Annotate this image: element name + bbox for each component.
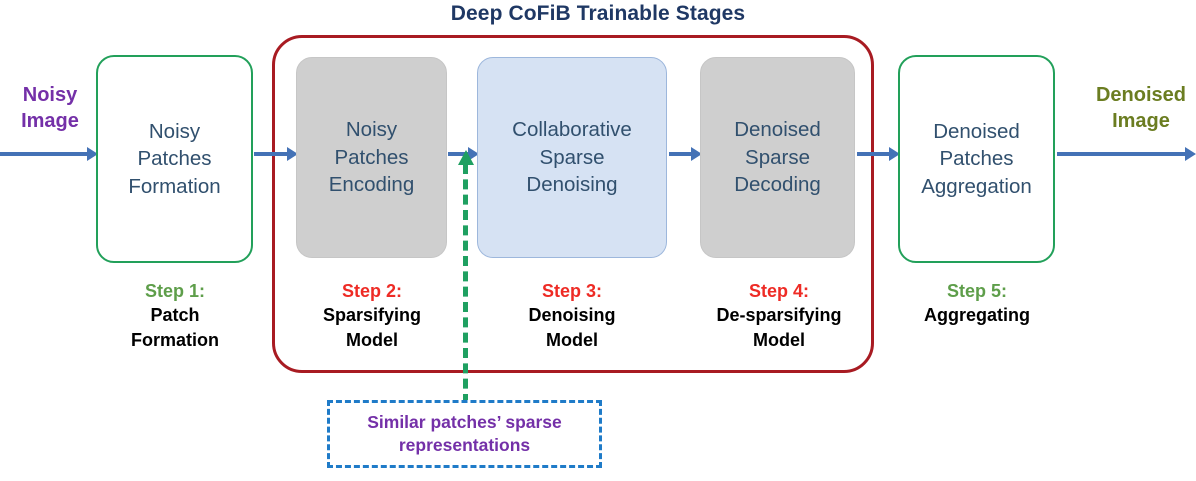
note-line-2: representations	[399, 434, 530, 457]
process-box-noisy-patches-encoding[interactable]: Noisy Patches Encoding	[296, 57, 447, 258]
step-1-line1: Patch	[96, 303, 254, 327]
input-label-line1: Noisy	[23, 84, 77, 106]
arrow-shaft	[1057, 152, 1185, 156]
note-similar-patches-sparse-representations: Similar patches’ sparse representations	[327, 400, 602, 468]
diagram-canvas: Deep CoFiB Trainable Stages Noisy Image …	[0, 0, 1196, 481]
step-3-head: Step 3:	[484, 279, 660, 303]
step-1-head: Step 1:	[96, 279, 254, 303]
step-1-line2: Formation	[96, 328, 254, 352]
box-line-2: Patches	[939, 145, 1013, 172]
arrow-input-to-formation	[0, 147, 98, 161]
feedback-arrow-head-icon	[458, 150, 474, 165]
box-line-1: Noisy	[149, 118, 200, 145]
step-5-head: Step 5:	[893, 279, 1061, 303]
step-4-line1: De-sparsifying	[690, 303, 868, 327]
arrow-denoising-to-decoding	[669, 147, 702, 161]
step-3-line1: Denoising	[484, 303, 660, 327]
step-3-line2: Model	[484, 328, 660, 352]
step-caption-2: Step 2: Sparsifying Model	[293, 279, 451, 352]
output-label: Denoised Image	[1086, 83, 1196, 134]
feedback-arrow-shaft	[463, 164, 468, 404]
arrow-aggregation-to-output	[1057, 147, 1196, 161]
box-line-2: Sparse	[540, 144, 605, 171]
step-5-line1: Aggregating	[893, 303, 1061, 327]
arrow-head-icon	[1185, 147, 1196, 161]
box-line-1: Noisy	[346, 116, 397, 143]
step-2-line2: Model	[293, 328, 451, 352]
process-box-noisy-patches-formation[interactable]: Noisy Patches Formation	[96, 55, 253, 263]
step-4-line2: Model	[690, 328, 868, 352]
step-caption-4: Step 4: De-sparsifying Model	[690, 279, 868, 352]
box-line-2: Patches	[137, 145, 211, 172]
arrow-shaft	[857, 152, 889, 156]
output-label-line1: Denoised	[1096, 84, 1186, 106]
page-title: Deep CoFiB Trainable Stages	[0, 2, 1196, 26]
step-caption-5: Step 5: Aggregating	[893, 279, 1061, 328]
step-caption-3: Step 3: Denoising Model	[484, 279, 660, 352]
output-label-line2: Image	[1112, 110, 1170, 132]
process-box-denoised-sparse-decoding[interactable]: Denoised Sparse Decoding	[700, 57, 855, 258]
note-line-1: Similar patches’ sparse	[367, 411, 562, 434]
arrow-shaft	[254, 152, 287, 156]
box-line-1: Denoised	[734, 116, 821, 143]
box-line-3: Aggregation	[921, 173, 1032, 200]
process-box-denoised-patches-aggregation[interactable]: Denoised Patches Aggregation	[898, 55, 1055, 263]
input-label: Noisy Image	[0, 83, 100, 134]
box-line-2: Patches	[334, 144, 408, 171]
input-label-line2: Image	[21, 110, 79, 132]
step-caption-1: Step 1: Patch Formation	[96, 279, 254, 352]
box-line-3: Decoding	[734, 171, 821, 198]
step-2-line1: Sparsifying	[293, 303, 451, 327]
step-2-head: Step 2:	[293, 279, 451, 303]
box-line-3: Formation	[128, 173, 220, 200]
arrow-decoding-to-aggregation	[857, 147, 900, 161]
box-line-3: Denoising	[526, 171, 617, 198]
process-box-collaborative-sparse-denoising[interactable]: Collaborative Sparse Denoising	[477, 57, 667, 258]
box-line-3: Encoding	[329, 171, 414, 198]
arrow-shaft	[0, 152, 87, 156]
arrow-formation-to-encoding	[254, 147, 298, 161]
box-line-2: Sparse	[745, 144, 810, 171]
box-line-1: Denoised	[933, 118, 1020, 145]
arrow-shaft	[669, 152, 691, 156]
feedback-dashed-arrow-up-icon	[458, 150, 474, 404]
box-line-1: Collaborative	[512, 116, 632, 143]
step-4-head: Step 4:	[690, 279, 868, 303]
